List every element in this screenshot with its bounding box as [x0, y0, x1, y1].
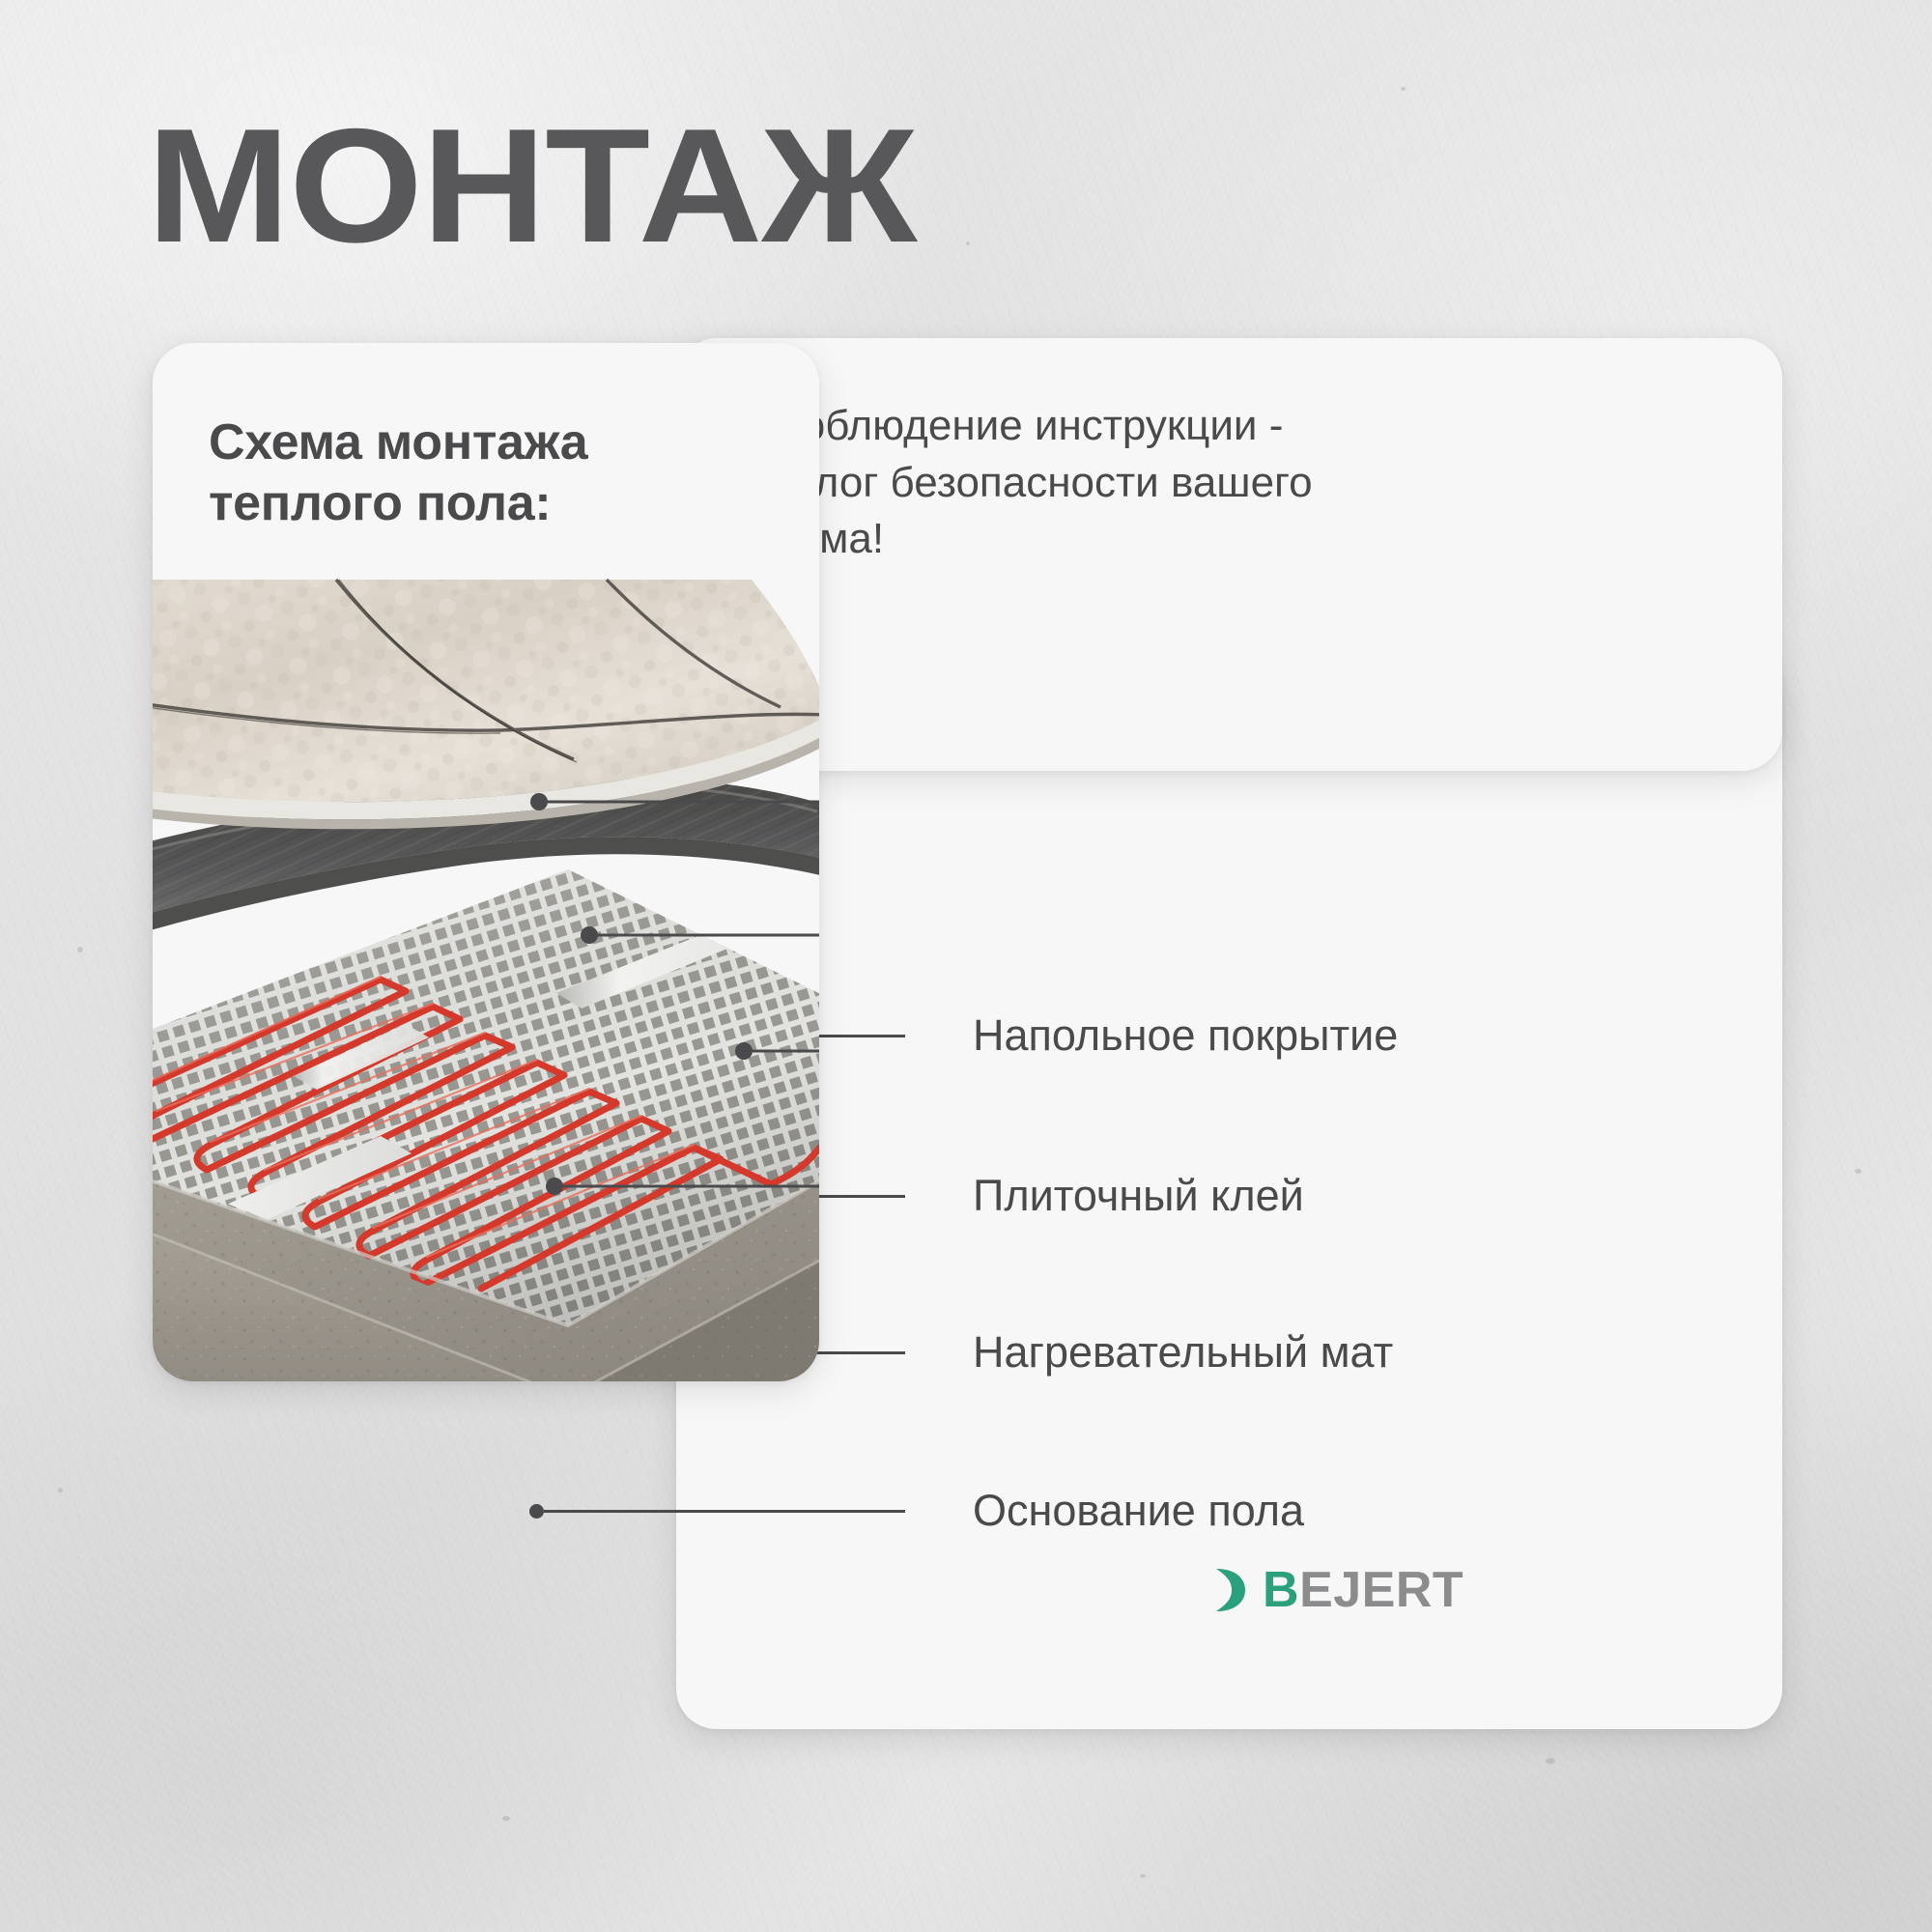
- scheme-heading-line-2: теплого пола:: [209, 475, 551, 531]
- safety-note-card: Соблюдение инструкции - залог безопаснос…: [676, 338, 1782, 771]
- bejert-logo: BEJERT: [1212, 1565, 1463, 1615]
- bejert-wordmark: BEJERT: [1263, 1565, 1463, 1615]
- bejert-word: EJERT: [1299, 1562, 1463, 1618]
- safety-note-line-1: Соблюдение инструкции -: [771, 398, 1408, 455]
- leader-line: [544, 1510, 905, 1513]
- bejert-b-letter: B: [1263, 1562, 1299, 1618]
- layer-label-text: Плиточный клей: [973, 1171, 1304, 1221]
- leader-dot-icon: [529, 1504, 544, 1519]
- safety-note-line-3: дома!: [771, 511, 1408, 568]
- layer-label-text: Напольное покрытие: [973, 1010, 1398, 1061]
- scheme-heading-line-1: Схема монтажа: [209, 414, 587, 470]
- page-title: МОНТАЖ: [147, 100, 916, 270]
- layer-label-text: Нагревательный мат: [973, 1327, 1393, 1378]
- safety-note-line-2: залог безопасности вашего: [771, 455, 1408, 512]
- layer-label-floor-covering: Напольное покрытие: [750, 1010, 1398, 1061]
- scheme-card-heading: Схема монтажа теплого пола:: [209, 412, 711, 535]
- scheme-card: Схема монтажа теплого пола:: [153, 343, 819, 1381]
- layer-label-heating-mat: Нагревательный мат: [744, 1327, 1393, 1378]
- layer-label-floor-base: Основание пола: [529, 1486, 1304, 1536]
- layer-label-text: Основание пола: [973, 1486, 1304, 1536]
- safety-note-text: Соблюдение инструкции - залог безопаснос…: [771, 398, 1408, 568]
- bejert-leaf-icon: [1212, 1565, 1257, 1615]
